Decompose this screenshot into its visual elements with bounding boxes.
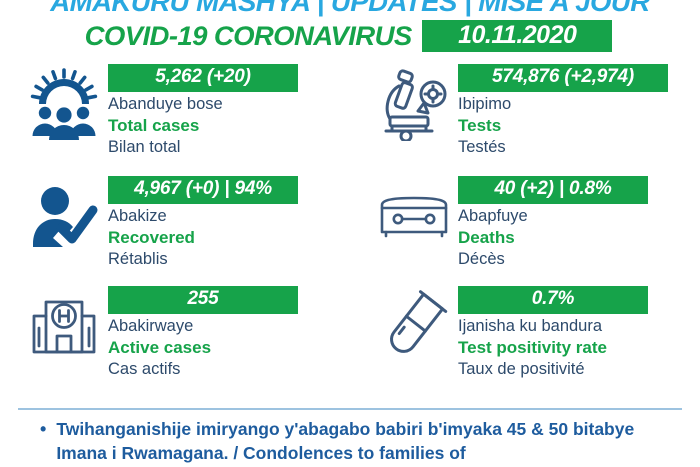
infographic-header: AMAKURU MASHYA | UPDATES | MISE A JOUR C… <box>0 0 700 58</box>
stat-card-tests: 574,876 (+2,974) Ibipimo Tests Testés <box>350 58 700 170</box>
footer-bullet-icon: • <box>18 418 56 442</box>
stat-label-rw-positivity-rate: Ijanisha ku bandura <box>458 316 648 337</box>
stat-label-en-deaths: Deaths <box>458 227 648 249</box>
stat-value-total-cases: 5,262 (+20) <box>108 64 298 92</box>
page-title: COVID-19 CORONAVIRUS <box>84 21 425 52</box>
person-check-icon <box>20 170 108 256</box>
people-virus-icon <box>20 58 108 144</box>
stat-label-en-recovered: Recovered <box>108 227 298 249</box>
stat-body-recovered: 4,967 (+0) | 94% Abakize Recovered Rétab… <box>108 170 298 270</box>
stat-card-recovered: 4,967 (+0) | 94% Abakize Recovered Rétab… <box>0 170 350 280</box>
statistics-grid: 5,262 (+20) Abanduye bose Total cases Bi… <box>0 58 700 403</box>
microscope-icon <box>370 58 458 144</box>
stat-label-fr-recovered: Rétablis <box>108 249 298 270</box>
stat-label-fr-active-cases: Cas actifs <box>108 359 298 380</box>
stat-label-en-active-cases: Active cases <box>108 337 298 359</box>
stat-label-rw-active-cases: Abakirwaye <box>108 316 298 337</box>
stat-value-recovered: 4,967 (+0) | 94% <box>108 176 298 204</box>
stat-value-positivity-rate: 0.7% <box>458 286 648 314</box>
coffin-icon <box>370 170 458 256</box>
stat-label-fr-tests: Testés <box>458 137 668 158</box>
stat-body-total-cases: 5,262 (+20) Abanduye bose Total cases Bi… <box>108 58 298 158</box>
stat-label-rw-total-cases: Abanduye bose <box>108 94 298 115</box>
stat-card-total-cases: 5,262 (+20) Abanduye bose Total cases Bi… <box>0 58 350 170</box>
stat-body-active-cases: 255 Abakirwaye Active cases Cas actifs <box>108 280 298 380</box>
stat-body-deaths: 40 (+2) | 0.8% Abapfuye Deaths Décès <box>458 170 648 270</box>
stat-label-fr-positivity-rate: Taux de positivité <box>458 359 648 380</box>
stat-label-fr-deaths: Décès <box>458 249 648 270</box>
hospital-icon <box>20 280 108 366</box>
footer-divider <box>18 408 682 410</box>
header-title-row: COVID-19 CORONAVIRUS 10.11.2020 <box>0 20 700 52</box>
stat-body-positivity-rate: 0.7% Ijanisha ku bandura Test positivity… <box>458 280 648 380</box>
stat-label-fr-total-cases: Bilan total <box>108 137 298 158</box>
stat-value-tests: 574,876 (+2,974) <box>458 64 668 92</box>
stat-label-en-positivity-rate: Test positivity rate <box>458 337 648 359</box>
footer-note: • Twihanganishije imiryango y'abagabo ba… <box>18 418 682 465</box>
stat-value-deaths: 40 (+2) | 0.8% <box>458 176 648 204</box>
report-date-badge: 10.11.2020 <box>422 20 612 52</box>
footer-note-text: Twihanganishije imiryango y'abagabo babi… <box>56 418 656 465</box>
stat-label-en-total-cases: Total cases <box>108 115 298 137</box>
stat-label-rw-recovered: Abakize <box>108 206 298 227</box>
stat-label-rw-tests: Ibipimo <box>458 94 668 115</box>
stat-card-active-cases: 255 Abakirwaye Active cases Cas actifs <box>0 280 350 392</box>
test-tube-icon <box>370 280 458 366</box>
stat-card-positivity-rate: 0.7% Ijanisha ku bandura Test positivity… <box>350 280 700 392</box>
stat-value-active-cases: 255 <box>108 286 298 314</box>
stat-label-rw-deaths: Abapfuye <box>458 206 648 227</box>
stat-card-deaths: 40 (+2) | 0.8% Abapfuye Deaths Décès <box>350 170 700 280</box>
header-subtitle-multilingual: AMAKURU MASHYA | UPDATES | MISE A JOUR <box>0 0 700 18</box>
stat-label-en-tests: Tests <box>458 115 668 137</box>
stat-body-tests: 574,876 (+2,974) Ibipimo Tests Testés <box>458 58 668 158</box>
